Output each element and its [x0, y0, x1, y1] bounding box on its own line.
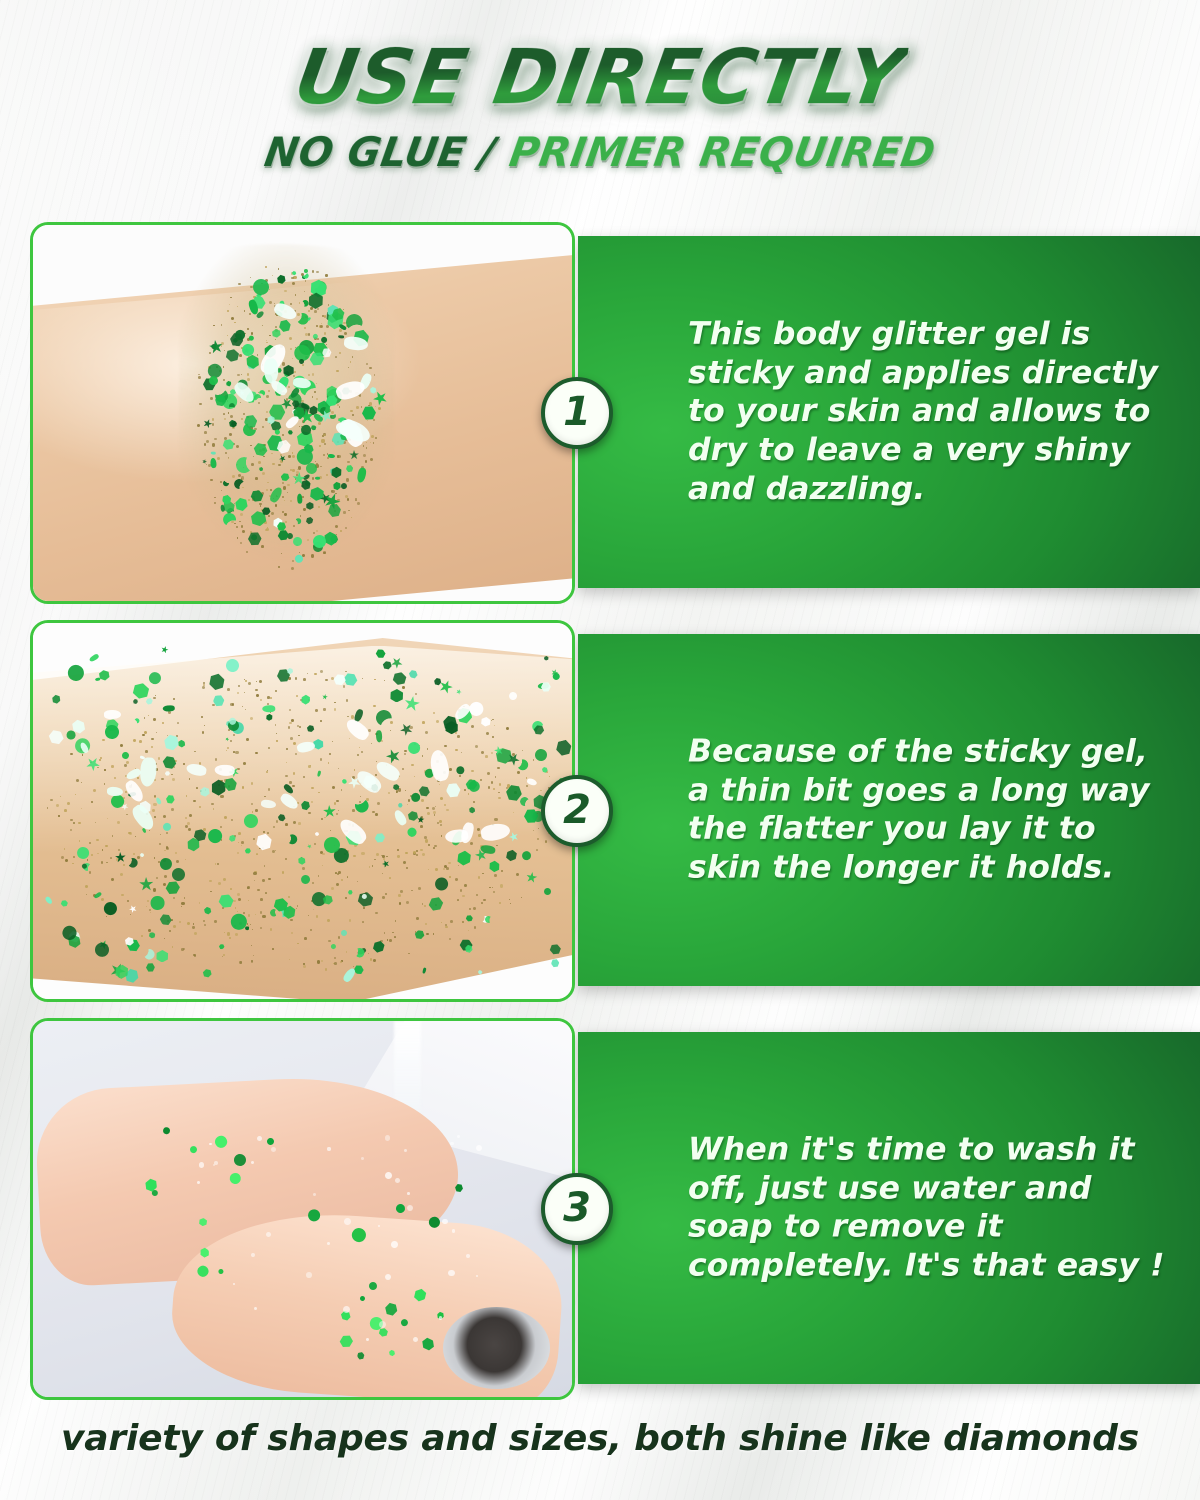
glitter-particle — [285, 823, 288, 826]
glitter-particle — [385, 1274, 392, 1281]
glitter-particle — [315, 709, 318, 712]
glitter-particle — [303, 965, 306, 968]
glitter-particle — [303, 678, 306, 681]
glitter-particle — [270, 489, 272, 491]
glitter-particle — [286, 748, 288, 750]
glitter-particle — [298, 735, 300, 737]
glitter-particle — [145, 750, 148, 753]
glitter-particle — [476, 1275, 478, 1277]
glitter-particle — [237, 893, 240, 896]
glitter-particle — [315, 477, 320, 480]
glitter-particle — [260, 898, 263, 901]
glitter-particle — [251, 960, 254, 963]
glitter-particle — [186, 795, 188, 797]
glitter-particle — [445, 926, 448, 929]
glitter-particle — [224, 418, 226, 420]
glitter-particle — [439, 820, 442, 823]
glitter-particle — [85, 885, 88, 888]
glitter-particle — [422, 853, 425, 856]
glitter-particle — [241, 418, 243, 420]
glitter-particle — [312, 477, 315, 480]
glitter-particle — [356, 406, 359, 409]
glitter-particle — [338, 768, 339, 769]
glitter-particle — [268, 788, 271, 791]
glitter-particle — [194, 955, 196, 957]
glitter-particle — [349, 738, 350, 739]
glitter-particle — [373, 959, 376, 962]
glitter-particle — [424, 905, 426, 907]
glitter-particle — [288, 896, 290, 898]
glitter-particle — [381, 855, 383, 857]
glitter-particle — [239, 521, 241, 523]
glitter-particle — [211, 803, 214, 806]
glitter-particle — [154, 795, 156, 797]
glitter-particle — [485, 755, 488, 758]
step-panel-3: When it's time to wash it off, just use … — [578, 1032, 1200, 1384]
step-photo-1 — [30, 222, 575, 604]
glitter-particle — [266, 395, 269, 398]
glitter-particle — [366, 1338, 369, 1341]
glitter-particle — [331, 490, 334, 493]
header-block: USE DIRECTLY NO GLUE / PRIMER REQUIRED — [0, 38, 1200, 176]
glitter-particle — [444, 865, 447, 868]
glitter-particle — [493, 788, 496, 791]
glitter-particle — [120, 744, 123, 747]
glitter-particle — [260, 505, 262, 507]
glitter-particle — [241, 374, 243, 376]
glitter-particle — [337, 873, 339, 875]
glitter-particle — [255, 477, 258, 480]
glitter-particle — [360, 796, 362, 798]
glitter-particle — [152, 809, 155, 812]
glitter-particle — [375, 813, 378, 816]
glitter-particle — [163, 704, 175, 711]
glitter-particle — [526, 785, 528, 787]
glitter-particle — [395, 1178, 400, 1183]
glitter-particle — [480, 779, 482, 781]
glitter-particle — [250, 924, 252, 926]
glitter-particle — [292, 452, 294, 454]
glitter-particle — [326, 325, 329, 328]
glitter-particle — [292, 358, 294, 360]
glitter-particle — [220, 481, 222, 483]
glitter-particle — [404, 750, 407, 753]
glitter-particle — [260, 911, 263, 914]
glitter-particle — [327, 1242, 330, 1245]
step-number-badge-3: 3 — [541, 1173, 613, 1245]
glitter-particle — [363, 445, 365, 447]
glitter-particle — [263, 456, 265, 458]
photo-2-artwork — [33, 623, 572, 999]
glitter-particle — [177, 722, 179, 724]
glitter-particle — [124, 764, 127, 767]
glitter-particle — [73, 856, 76, 859]
glitter-particle — [130, 914, 131, 915]
glitter-particle — [443, 868, 445, 870]
glitter-particle — [271, 1147, 276, 1152]
glitter-particle — [187, 822, 190, 825]
glitter-particle — [317, 338, 319, 340]
glitter-particle — [262, 704, 276, 712]
glitter-particle — [171, 919, 173, 921]
glitter-particle — [166, 832, 168, 834]
glitter-particle — [371, 435, 374, 438]
glitter-particle — [533, 759, 535, 761]
step-photo-3 — [30, 1018, 575, 1400]
glitter-particle — [117, 821, 120, 824]
glitter-particle — [362, 894, 367, 899]
glitter-particle — [248, 499, 250, 501]
glitter-particle — [365, 460, 368, 463]
step-number-badge-1: 1 — [541, 377, 613, 449]
glitter-particle — [223, 379, 226, 382]
glitter-particle — [489, 887, 491, 889]
glitter-particle — [256, 694, 259, 697]
glitter-particle — [314, 843, 316, 845]
glitter-particle — [231, 819, 233, 821]
glitter-particle — [249, 313, 252, 316]
glitter-particle — [189, 814, 192, 817]
glitter-particle — [237, 537, 239, 539]
glitter-particle — [375, 406, 376, 407]
glitter-particle — [251, 782, 254, 785]
glitter-particle — [302, 867, 305, 870]
glitter-particle — [482, 873, 484, 875]
glitter-particle — [292, 469, 295, 472]
glitter-particle — [374, 859, 376, 861]
glitter-particle — [255, 809, 258, 812]
glitter-particle — [233, 751, 235, 753]
glitter-particle — [285, 858, 287, 860]
glitter-particle — [385, 1172, 392, 1179]
glitter-particle — [271, 453, 273, 455]
glitter-particle — [420, 849, 423, 852]
glitter-particle — [477, 828, 480, 831]
glitter-particle — [265, 892, 267, 894]
glitter-particle — [223, 954, 225, 956]
glitter-particle — [457, 899, 459, 901]
glitter-particle — [67, 802, 70, 805]
glitter-particle — [297, 943, 299, 945]
glitter-particle — [305, 280, 307, 282]
glitter-particle — [313, 909, 314, 910]
glitter-particle — [341, 789, 343, 791]
glitter-particle — [382, 873, 384, 875]
glitter-particle — [295, 294, 297, 296]
glitter-particle — [394, 936, 396, 938]
glitter-particle — [189, 778, 191, 780]
glitter-particle — [292, 560, 294, 562]
glitter-particle — [203, 828, 206, 831]
glitter-particle — [324, 315, 327, 318]
glitter-particle — [275, 504, 278, 507]
glitter-particle — [294, 371, 296, 373]
glitter-particle — [320, 720, 322, 722]
glitter-particle — [407, 1192, 410, 1195]
glitter-particle — [332, 786, 335, 789]
glitter-particle — [262, 879, 265, 882]
glitter-particle — [322, 853, 325, 856]
footer-caption: variety of shapes and sizes, both shine … — [0, 1418, 1200, 1459]
glitter-particle — [291, 277, 294, 280]
glitter-particle — [293, 772, 296, 775]
glitter-particle — [241, 845, 243, 847]
glitter-particle — [374, 679, 376, 681]
glitter-particle — [540, 790, 542, 792]
glitter-particle — [282, 434, 284, 436]
glitter-particle — [158, 757, 161, 760]
glitter-particle — [348, 510, 350, 512]
glitter-particle — [353, 855, 356, 858]
glitter-particle — [268, 747, 270, 749]
glitter-particle — [185, 817, 187, 819]
glitter-particle — [325, 968, 328, 971]
glitter-particle — [292, 785, 295, 788]
glitter-particle — [61, 856, 64, 859]
glitter-particle — [517, 771, 520, 774]
glitter-particle — [176, 735, 178, 737]
glitter-particle — [421, 799, 424, 802]
glitter-particle — [243, 413, 245, 415]
glitter-particle — [139, 740, 142, 743]
glitter-particle — [78, 822, 81, 825]
glitter-particle — [229, 433, 232, 436]
glitter-particle — [418, 887, 421, 890]
glitter-particle — [220, 826, 222, 828]
photo-3-artwork — [33, 1021, 572, 1397]
glitter-particle — [411, 764, 414, 767]
glitter-particle — [82, 754, 84, 756]
glitter-particle — [313, 1193, 317, 1197]
glitter-particle — [278, 268, 280, 270]
glitter-particle — [411, 890, 413, 892]
glitter-particle — [336, 370, 339, 373]
glitter-particle — [371, 743, 372, 744]
glitter-particle — [106, 862, 108, 864]
glitter-particle — [450, 920, 453, 923]
glitter-particle — [204, 924, 206, 926]
glitter-particle — [238, 283, 241, 286]
glitter-particle — [259, 680, 262, 683]
glitter-particle — [327, 919, 330, 922]
glitter-particle — [349, 919, 352, 922]
step-number-1: 1 — [563, 392, 591, 432]
step-number-2: 2 — [563, 790, 591, 830]
glitter-particle — [275, 690, 277, 692]
glitter-particle — [162, 722, 164, 724]
glitter-particle — [229, 937, 231, 939]
glitter-particle — [275, 326, 277, 328]
glitter-particle — [272, 948, 274, 950]
glitter-particle — [137, 856, 140, 859]
glitter-particle — [278, 464, 281, 467]
glitter-particle — [452, 1229, 456, 1233]
glitter-particle — [361, 751, 363, 753]
step-block-2: Because of the sticky gel, a thin bit go… — [0, 620, 1200, 1002]
glitter-particle — [391, 1241, 398, 1248]
glitter-particle — [355, 499, 357, 501]
glitter-particle — [266, 1232, 272, 1238]
glitter-particle — [233, 900, 236, 903]
glitter-particle — [282, 496, 284, 498]
glitter-particle — [276, 733, 278, 735]
glitter-particle — [275, 724, 277, 726]
glitter-particle — [336, 800, 339, 803]
step-text-1: This body glitter gel is sticky and appl… — [688, 315, 1172, 509]
page-title: USE DIRECTLY — [290, 38, 910, 116]
glitter-particle — [344, 1218, 351, 1225]
glitter-particle — [211, 452, 216, 455]
glitter-particle — [215, 765, 235, 776]
glitter-particle — [464, 884, 467, 887]
glitter-particle — [323, 552, 326, 555]
glitter-particle — [398, 894, 401, 897]
glitter-particle — [171, 774, 173, 776]
glitter-particle — [318, 792, 320, 794]
step-panel-2: Because of the sticky gel, a thin bit go… — [578, 634, 1200, 986]
subtitle-dark-part: NO GLUE / — [261, 130, 499, 176]
glitter-particle — [317, 308, 319, 310]
glitter-particle — [422, 721, 425, 724]
glitter-particle — [425, 923, 427, 925]
glitter-particle — [499, 902, 501, 904]
glitter-particle — [79, 840, 81, 842]
glitter-particle — [352, 809, 355, 812]
glitter-particle — [151, 895, 165, 909]
glitter-particle — [312, 270, 315, 273]
step-block-1: This body glitter gel is sticky and appl… — [0, 222, 1200, 604]
glitter-particle — [343, 322, 346, 325]
glitter-particle — [91, 854, 94, 857]
glitter-particle — [153, 697, 156, 700]
glitter-particle — [416, 917, 419, 920]
glitter-particle — [300, 515, 302, 517]
glitter-particle — [369, 1281, 377, 1289]
glitter-particle — [64, 809, 67, 812]
glitter-particle — [239, 354, 242, 357]
glitter-particle — [290, 500, 292, 502]
glitter-particle — [473, 907, 476, 910]
glitter-particle — [268, 515, 270, 517]
glitter-particle — [473, 801, 475, 803]
photo-1-artwork — [33, 225, 572, 601]
glitter-particle — [370, 958, 373, 961]
glitter-particle — [56, 804, 59, 807]
glitter-particle — [70, 819, 73, 822]
glitter-particle — [402, 768, 405, 771]
glitter-particle — [164, 850, 166, 852]
glitter-particle — [266, 771, 268, 773]
glitter-particle — [257, 889, 260, 892]
glitter-particle — [161, 778, 164, 781]
glitter-particle — [516, 873, 519, 876]
glitter-particle — [100, 757, 102, 759]
glitter-particle — [217, 457, 220, 460]
glitter-particle — [311, 787, 314, 790]
glitter-particle — [385, 1135, 391, 1141]
step-photo-2 — [30, 620, 575, 1002]
glitter-particle — [284, 290, 287, 293]
glitter-particle — [230, 297, 232, 299]
glitter-particle — [267, 832, 269, 834]
glitter-particle — [224, 437, 227, 440]
glitter-particle — [312, 396, 314, 398]
glitter-particle — [255, 752, 258, 755]
glitter-particle — [340, 530, 342, 532]
glitter-particle — [338, 871, 341, 874]
glitter-particle — [402, 686, 405, 689]
glitter-particle — [302, 364, 304, 366]
glitter-particle — [246, 738, 249, 741]
subtitle-light-part: PRIMER REQUIRED — [506, 130, 938, 176]
glitter-particle — [203, 920, 205, 922]
glitter-particle — [316, 325, 318, 327]
glitter-particle — [247, 886, 250, 889]
glitter-particle — [420, 825, 423, 828]
glitter-particle — [272, 463, 275, 466]
glitter-particle — [111, 878, 114, 881]
glitter-particle — [224, 350, 226, 352]
glitter-particle — [492, 736, 494, 738]
glitter-particle — [448, 862, 451, 865]
glitter-particle — [153, 718, 156, 721]
glitter-particle — [199, 1162, 205, 1168]
glitter-particle — [104, 783, 106, 785]
glitter-particle — [359, 747, 361, 749]
glitter-particle — [382, 896, 385, 899]
glitter-particle — [331, 677, 334, 680]
glitter-particle — [334, 962, 337, 965]
glitter-particle — [187, 922, 190, 925]
glitter-particle — [345, 897, 347, 899]
glitter-particle — [193, 923, 195, 925]
glitter-particle — [234, 322, 236, 324]
glitter-particle — [308, 333, 311, 336]
glitter-particle — [214, 1161, 218, 1165]
glitter-particle — [112, 835, 114, 837]
glitter-particle — [107, 787, 123, 796]
glitter-particle — [253, 838, 255, 840]
glitter-particle — [204, 431, 207, 434]
glitter-particle — [297, 494, 303, 504]
glitter-particle — [375, 912, 378, 915]
glitter-particle — [296, 474, 298, 476]
glitter-particle — [400, 890, 403, 893]
glitter-particle — [268, 878, 271, 881]
glitter-particle — [288, 726, 291, 729]
glitter-particle — [230, 740, 233, 743]
glitter-particle — [335, 356, 337, 358]
glitter-particle — [167, 735, 169, 737]
glitter-particle — [302, 496, 304, 498]
glitter-particle — [95, 943, 109, 957]
glitter-particle — [287, 484, 290, 487]
glitter-particle — [373, 442, 375, 444]
glitter-particle — [66, 730, 76, 740]
step-panel-1: This body glitter gel is sticky and appl… — [578, 236, 1200, 588]
glitter-particle — [308, 310, 310, 312]
glitter-particle — [183, 763, 185, 765]
glitter-particle — [350, 361, 352, 363]
glitter-particle — [387, 939, 389, 941]
glitter-particle — [335, 872, 337, 874]
glitter-particle — [299, 726, 301, 728]
glitter-particle — [243, 912, 245, 914]
glitter-particle — [185, 859, 187, 861]
glitter-particle — [442, 1219, 448, 1225]
glitter-particle — [424, 836, 427, 839]
glitter-particle — [362, 921, 364, 923]
